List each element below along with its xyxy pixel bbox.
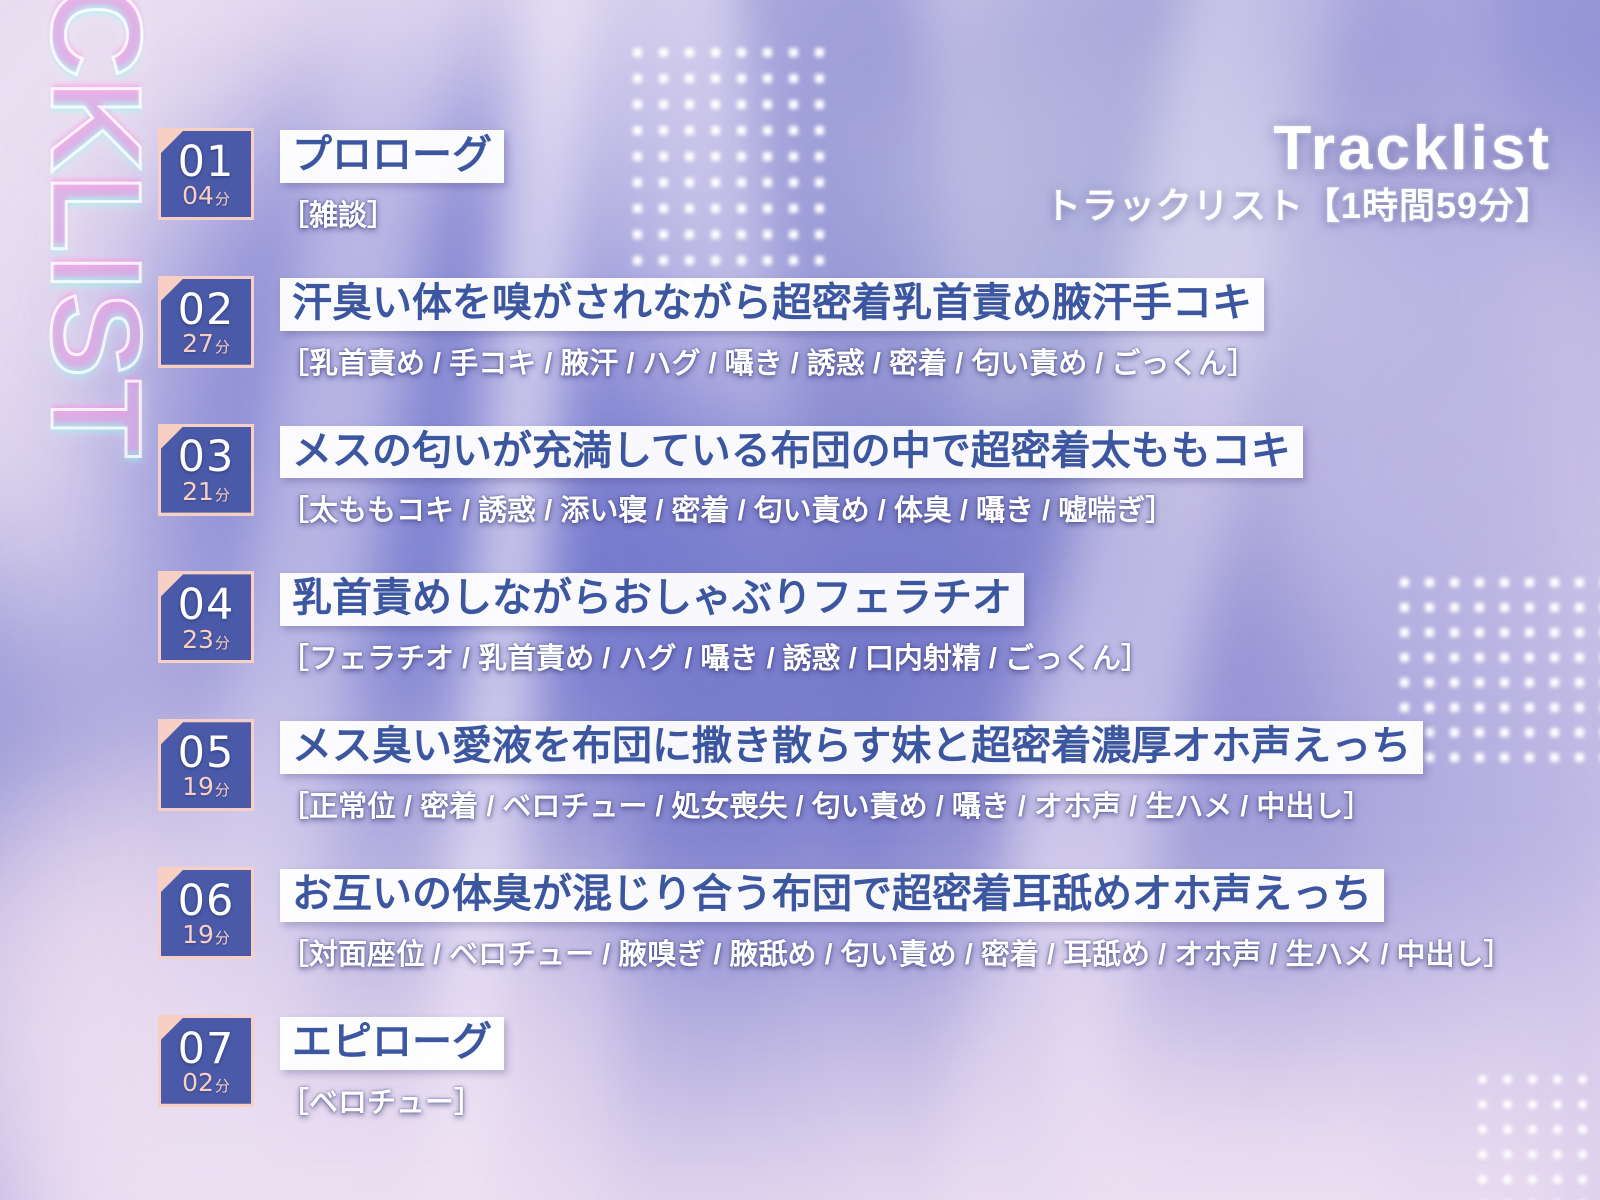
track-title: お互いの体臭が混じり合う布団で超密着耳舐めオホ声えっち [292,874,1372,915]
track-duration-unit: 分 [215,634,230,652]
track-badge: 06 19分 [158,867,254,959]
track-duration-unit: 分 [215,190,230,208]
track-title: 汗臭い体を嗅がされながら超密着乳首責め腋汗手コキ [292,283,1252,324]
track-body: エピローグ ［ベロチュー］ [280,1015,1558,1121]
track-number: 03 [178,437,235,477]
track-number: 01 [178,142,235,182]
track-row[interactable]: 06 19分 お互いの体臭が混じり合う布団で超密着耳舐めオホ声えっち ［対面座位… [158,867,1558,973]
track-duration: 19分 [182,774,230,799]
track-tags: ［フェラチオ / 乳首責め / ハグ / 囁き / 誘惑 / 口内射精 / ごっ… [280,635,1558,677]
track-duration-value: 19 [182,772,214,801]
track-title-bar: メス臭い愛液を布団に撒き散らす妹と超密着濃厚オホ声えっち [280,721,1423,774]
track-duration-value: 21 [182,477,214,506]
track-badge: 02 27分 [158,276,254,368]
track-duration-unit: 分 [215,486,230,504]
track-title-bar: プロローグ [280,130,504,183]
track-body: メス臭い愛液を布団に撒き散らす妹と超密着濃厚オホ声えっち ［正常位 / 密着 /… [280,719,1558,825]
track-badge: 05 19分 [158,719,254,811]
track-duration: 27分 [182,331,230,356]
track-badge: 03 21分 [158,424,254,516]
track-title: メスの匂いが充満している布団の中で超密着太ももコキ [292,431,1291,472]
track-row[interactable]: 01 04分 プロローグ ［雑談］ [158,128,1558,234]
track-body: プロローグ ［雑談］ [280,128,1558,234]
track-title-bar: 汗臭い体を嗅がされながら超密着乳首責め腋汗手コキ [280,278,1264,331]
track-number: 05 [178,733,235,773]
track-body: 汗臭い体を嗅がされながら超密着乳首責め腋汗手コキ ［乳首責め / 手コキ / 腋… [280,276,1558,382]
track-number: 07 [178,1029,235,1069]
track-tags: ［対面座位 / ベロチュー / 腋嗅ぎ / 腋舐め / 匂い責め / 密着 / … [280,931,1558,973]
track-number: 06 [178,881,235,921]
track-duration: 19分 [182,922,230,947]
track-tags: ［雑談］ [280,192,1558,234]
track-row[interactable]: 02 27分 汗臭い体を嗅がされながら超密着乳首責め腋汗手コキ ［乳首責め / … [158,276,1558,382]
track-duration: 23分 [182,627,230,652]
track-body: 乳首責めしながらおしゃぶりフェラチオ ［フェラチオ / 乳首責め / ハグ / … [280,571,1558,677]
tracklist-poster: TRACKLIST Tracklist トラックリスト【1時間59分】 01 0… [0,0,1600,1200]
track-title-bar: エピローグ [280,1017,504,1070]
track-body: お互いの体臭が混じり合う布団で超密着耳舐めオホ声えっち ［対面座位 / ベロチュ… [280,867,1558,973]
track-duration: 04分 [182,183,230,208]
track-row[interactable]: 03 21分 メスの匂いが充満している布団の中で超密着太ももコキ ［太ももコキ … [158,424,1558,530]
track-number: 02 [178,290,235,330]
track-duration: 21分 [182,479,230,504]
track-title: プロローグ [292,135,492,176]
track-duration-unit: 分 [215,929,230,947]
track-badge: 04 23分 [158,571,254,663]
track-duration-value: 04 [182,181,214,210]
track-row[interactable]: 04 23分 乳首責めしながらおしゃぶりフェラチオ ［フェラチオ / 乳首責め … [158,571,1558,677]
track-tags: ［乳首責め / 手コキ / 腋汗 / ハグ / 囁き / 誘惑 / 密着 / 匂… [280,340,1558,382]
track-duration-value: 19 [182,920,214,949]
track-row[interactable]: 05 19分 メス臭い愛液を布団に撒き散らす妹と超密着濃厚オホ声えっち ［正常位… [158,719,1558,825]
track-title: 乳首責めしながらおしゃぶりフェラチオ [292,578,1012,619]
track-duration-value: 23 [182,625,214,654]
track-title: エピローグ [292,1022,492,1063]
track-body: メスの匂いが充満している布団の中で超密着太ももコキ ［太ももコキ / 誘惑 / … [280,424,1558,530]
track-row[interactable]: 07 02分 エピローグ ［ベロチュー］ [158,1015,1558,1121]
track-badge: 01 04分 [158,128,254,220]
track-duration-unit: 分 [215,338,230,356]
track-number: 04 [178,585,235,625]
track-duration-value: 02 [182,1068,214,1097]
track-title-bar: 乳首責めしながらおしゃぶりフェラチオ [280,573,1024,626]
track-duration-unit: 分 [215,1077,230,1095]
track-badge: 07 02分 [158,1015,254,1107]
track-tags: ［正常位 / 密着 / ベロチュー / 処女喪失 / 匂い責め / 囁き / オ… [280,783,1558,825]
track-list: 01 04分 プロローグ ［雑談］ 02 27分 汗臭い体を嗅がされな [158,128,1558,1121]
track-duration-unit: 分 [215,781,230,799]
track-duration: 02分 [182,1070,230,1095]
track-title: メス臭い愛液を布団に撒き散らす妹と超密着濃厚オホ声えっち [292,726,1411,767]
track-title-bar: メスの匂いが充満している布団の中で超密着太ももコキ [280,426,1303,479]
track-tags: ［ベロチュー］ [280,1079,1558,1121]
track-title-bar: お互いの体臭が混じり合う布団で超密着耳舐めオホ声えっち [280,869,1384,922]
track-duration-value: 27 [182,329,214,358]
track-tags: ［太ももコキ / 誘惑 / 添い寝 / 密着 / 匂い責め / 体臭 / 囁き … [280,487,1558,529]
